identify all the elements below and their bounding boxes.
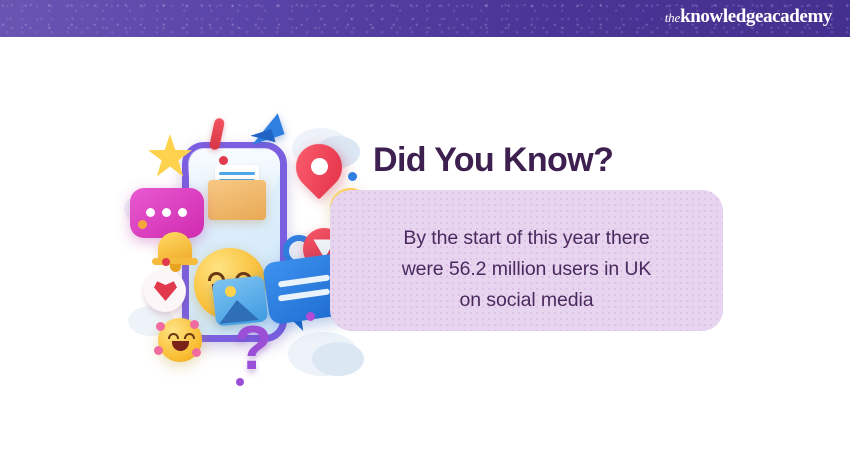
brand-header-bar: theknowledgeacademy: [0, 0, 850, 37]
fact-line: were 56.2 million users in UK: [330, 254, 723, 285]
flower-petal: [154, 346, 163, 355]
blushing-emoji-eye-left: [168, 333, 179, 339]
brand-logo-the: the: [665, 10, 680, 25]
decor-dot: [162, 258, 170, 266]
fact-text: By the start of this year there were 56.…: [330, 223, 723, 316]
flower-petal: [192, 348, 201, 357]
decor-dot: [138, 220, 147, 229]
brand-logo-name: knowledgeacademy: [680, 6, 832, 27]
brand-logo[interactable]: theknowledgeacademy: [665, 6, 832, 28]
chat-bubble-dot: [178, 208, 187, 217]
envelope-body-icon: [208, 180, 266, 220]
fact-line: on social media: [330, 285, 723, 316]
flower-petal: [156, 322, 165, 331]
chat-bubble-dot: [162, 208, 171, 217]
question-mark-icon: ?: [234, 318, 272, 380]
decor-dot: [348, 172, 357, 181]
envelope-letter-line: [219, 172, 255, 175]
exclamation-mark-dot-icon: [219, 156, 228, 165]
decor-dot: [236, 378, 244, 386]
cloud-shape: [312, 342, 364, 376]
fact-card: By the start of this year there were 56.…: [330, 190, 723, 331]
decor-dot: [306, 312, 315, 321]
chat-bubble-dot: [146, 208, 155, 217]
page-title: Did You Know?: [373, 141, 613, 180]
blushing-emoji-eye-right: [184, 333, 195, 339]
fact-line: By the start of this year there: [330, 223, 723, 254]
flower-petal: [190, 320, 199, 329]
location-pin-hole: [311, 158, 328, 175]
